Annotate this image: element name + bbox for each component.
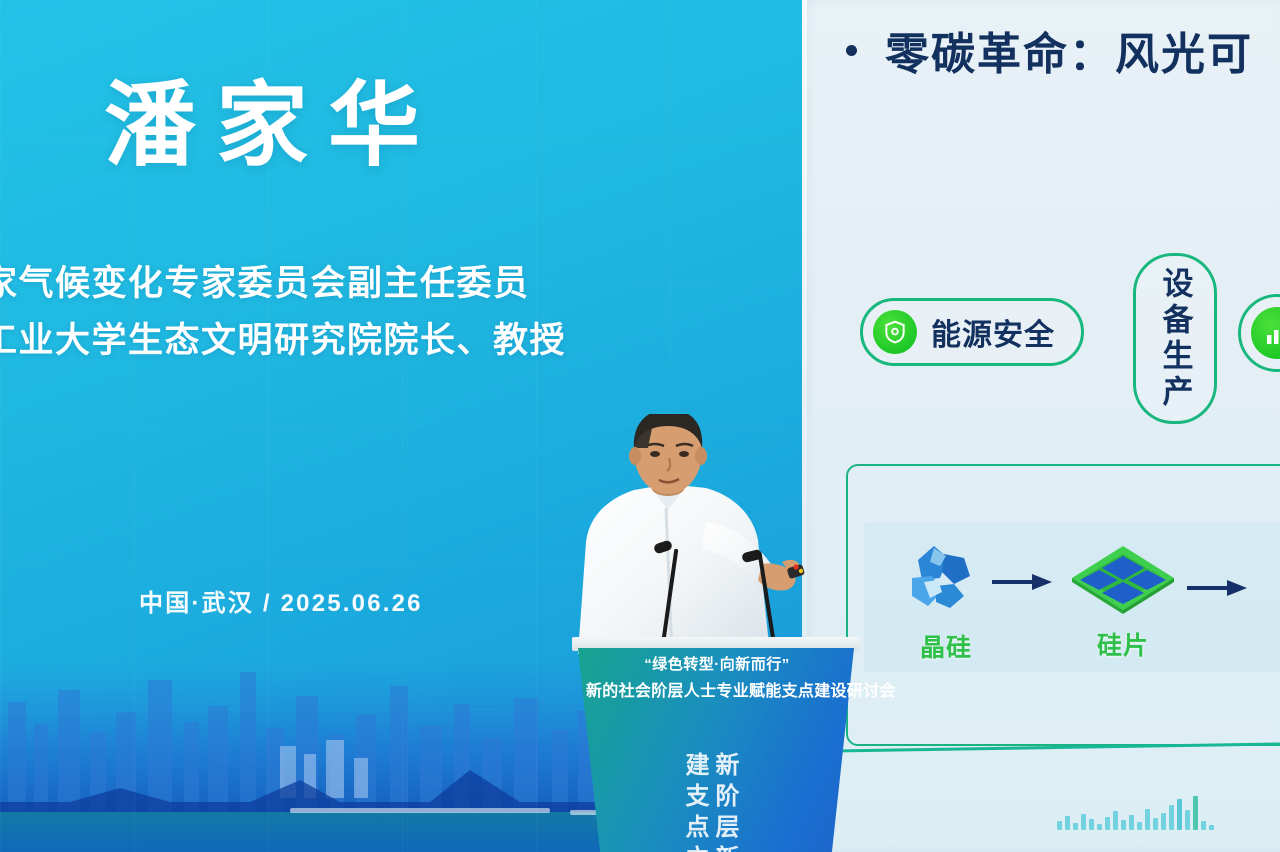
process-step-label: 硅片 [1097, 626, 1149, 662]
speaker-name: 潘家华 [104, 78, 440, 175]
process-step-silicon: 晶硅 [898, 538, 994, 664]
shield-icon [873, 310, 917, 354]
arrow-right-icon [992, 572, 1054, 592]
badge-chart [1238, 294, 1280, 372]
badge-label: 设备生产 [1160, 267, 1191, 411]
process-step-wafer: 硅片 [1068, 540, 1178, 662]
speaker-title-block: 家气候变化专家委员会副主任委员 工业大学生态文明研究院院长、教授 [0, 256, 662, 369]
slide-heading: 零碳革命：风光可 [885, 18, 1253, 82]
mini-bar-chart-icon [1057, 790, 1214, 830]
stage-backdrop: 潘家华 家气候变化专家委员会副主任委员 工业大学生态文明研究院院长、教授 中国·… [0, 0, 802, 852]
wuhan-skyline-graphic [0, 662, 802, 852]
bullet-dot-icon [846, 45, 857, 56]
silicon-rock-icon [898, 538, 994, 622]
bar-chart-icon [1251, 307, 1280, 359]
speaker-title-line-2: 工业大学生态文明研究院院长、教授 [0, 313, 662, 370]
badge-energy-security: 能源安全 [860, 298, 1084, 366]
process-step-label: 晶硅 [920, 628, 972, 664]
event-location-date: 中国·武汉 / 2025.06.26 [139, 583, 423, 618]
silicon-wafer-icon [1068, 540, 1178, 620]
slide-heading-row: 零碳革命：风光可 [846, 18, 1253, 82]
projection-screen: 零碳革命：风光可 能源安全 设备生产 [802, 0, 1280, 852]
speaker-title-line-1: 家气候变化专家委员会副主任委员 [0, 256, 662, 313]
screen-left-edge [802, 0, 807, 852]
badge-equipment-production: 设备生产 [1133, 253, 1217, 424]
badge-label: 能源安全 [931, 310, 1055, 354]
conference-photo: 潘家华 家气候变化专家委员会副主任委员 工业大学生态文明研究院院长、教授 中国·… [0, 0, 1280, 852]
arrow-right-icon [1187, 578, 1249, 598]
